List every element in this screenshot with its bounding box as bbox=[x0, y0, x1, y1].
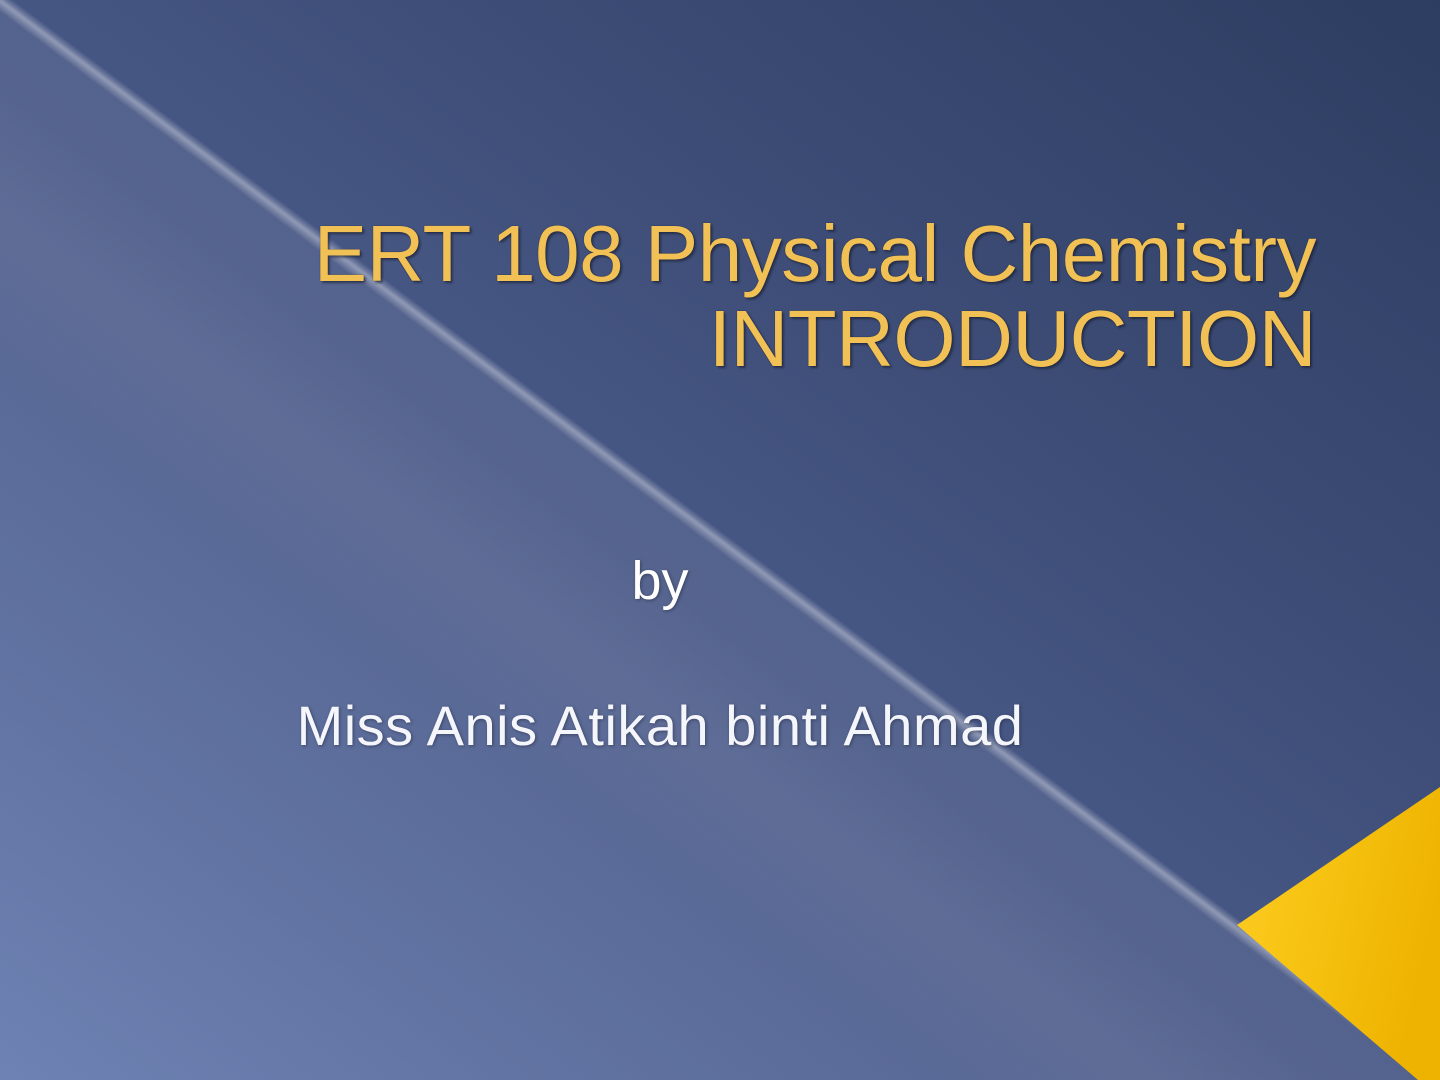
slide-title: ERT 108 Physical Chemistry INTRODUCTION bbox=[120, 212, 1316, 382]
subtitle-author-name: Miss Anis Atikah binti Ahmad bbox=[120, 695, 1200, 757]
gold-accent-wedge bbox=[0, 0, 1440, 1080]
subtitle-spacer bbox=[120, 611, 1200, 695]
slide-subtitle: by Miss Anis Atikah binti Ahmad bbox=[120, 552, 1200, 757]
title-line-course: ERT 108 Physical Chemistry bbox=[120, 212, 1316, 297]
diagonal-sheen-overlay bbox=[0, 0, 1440, 1080]
subtitle-byline: by bbox=[120, 552, 1200, 611]
title-line-topic: INTRODUCTION bbox=[120, 297, 1316, 382]
presentation-slide: ERT 108 Physical Chemistry INTRODUCTION … bbox=[0, 0, 1440, 1080]
diagonal-band-overlay bbox=[0, 0, 1440, 1080]
diagonal-highlight-line bbox=[0, 0, 1440, 1080]
